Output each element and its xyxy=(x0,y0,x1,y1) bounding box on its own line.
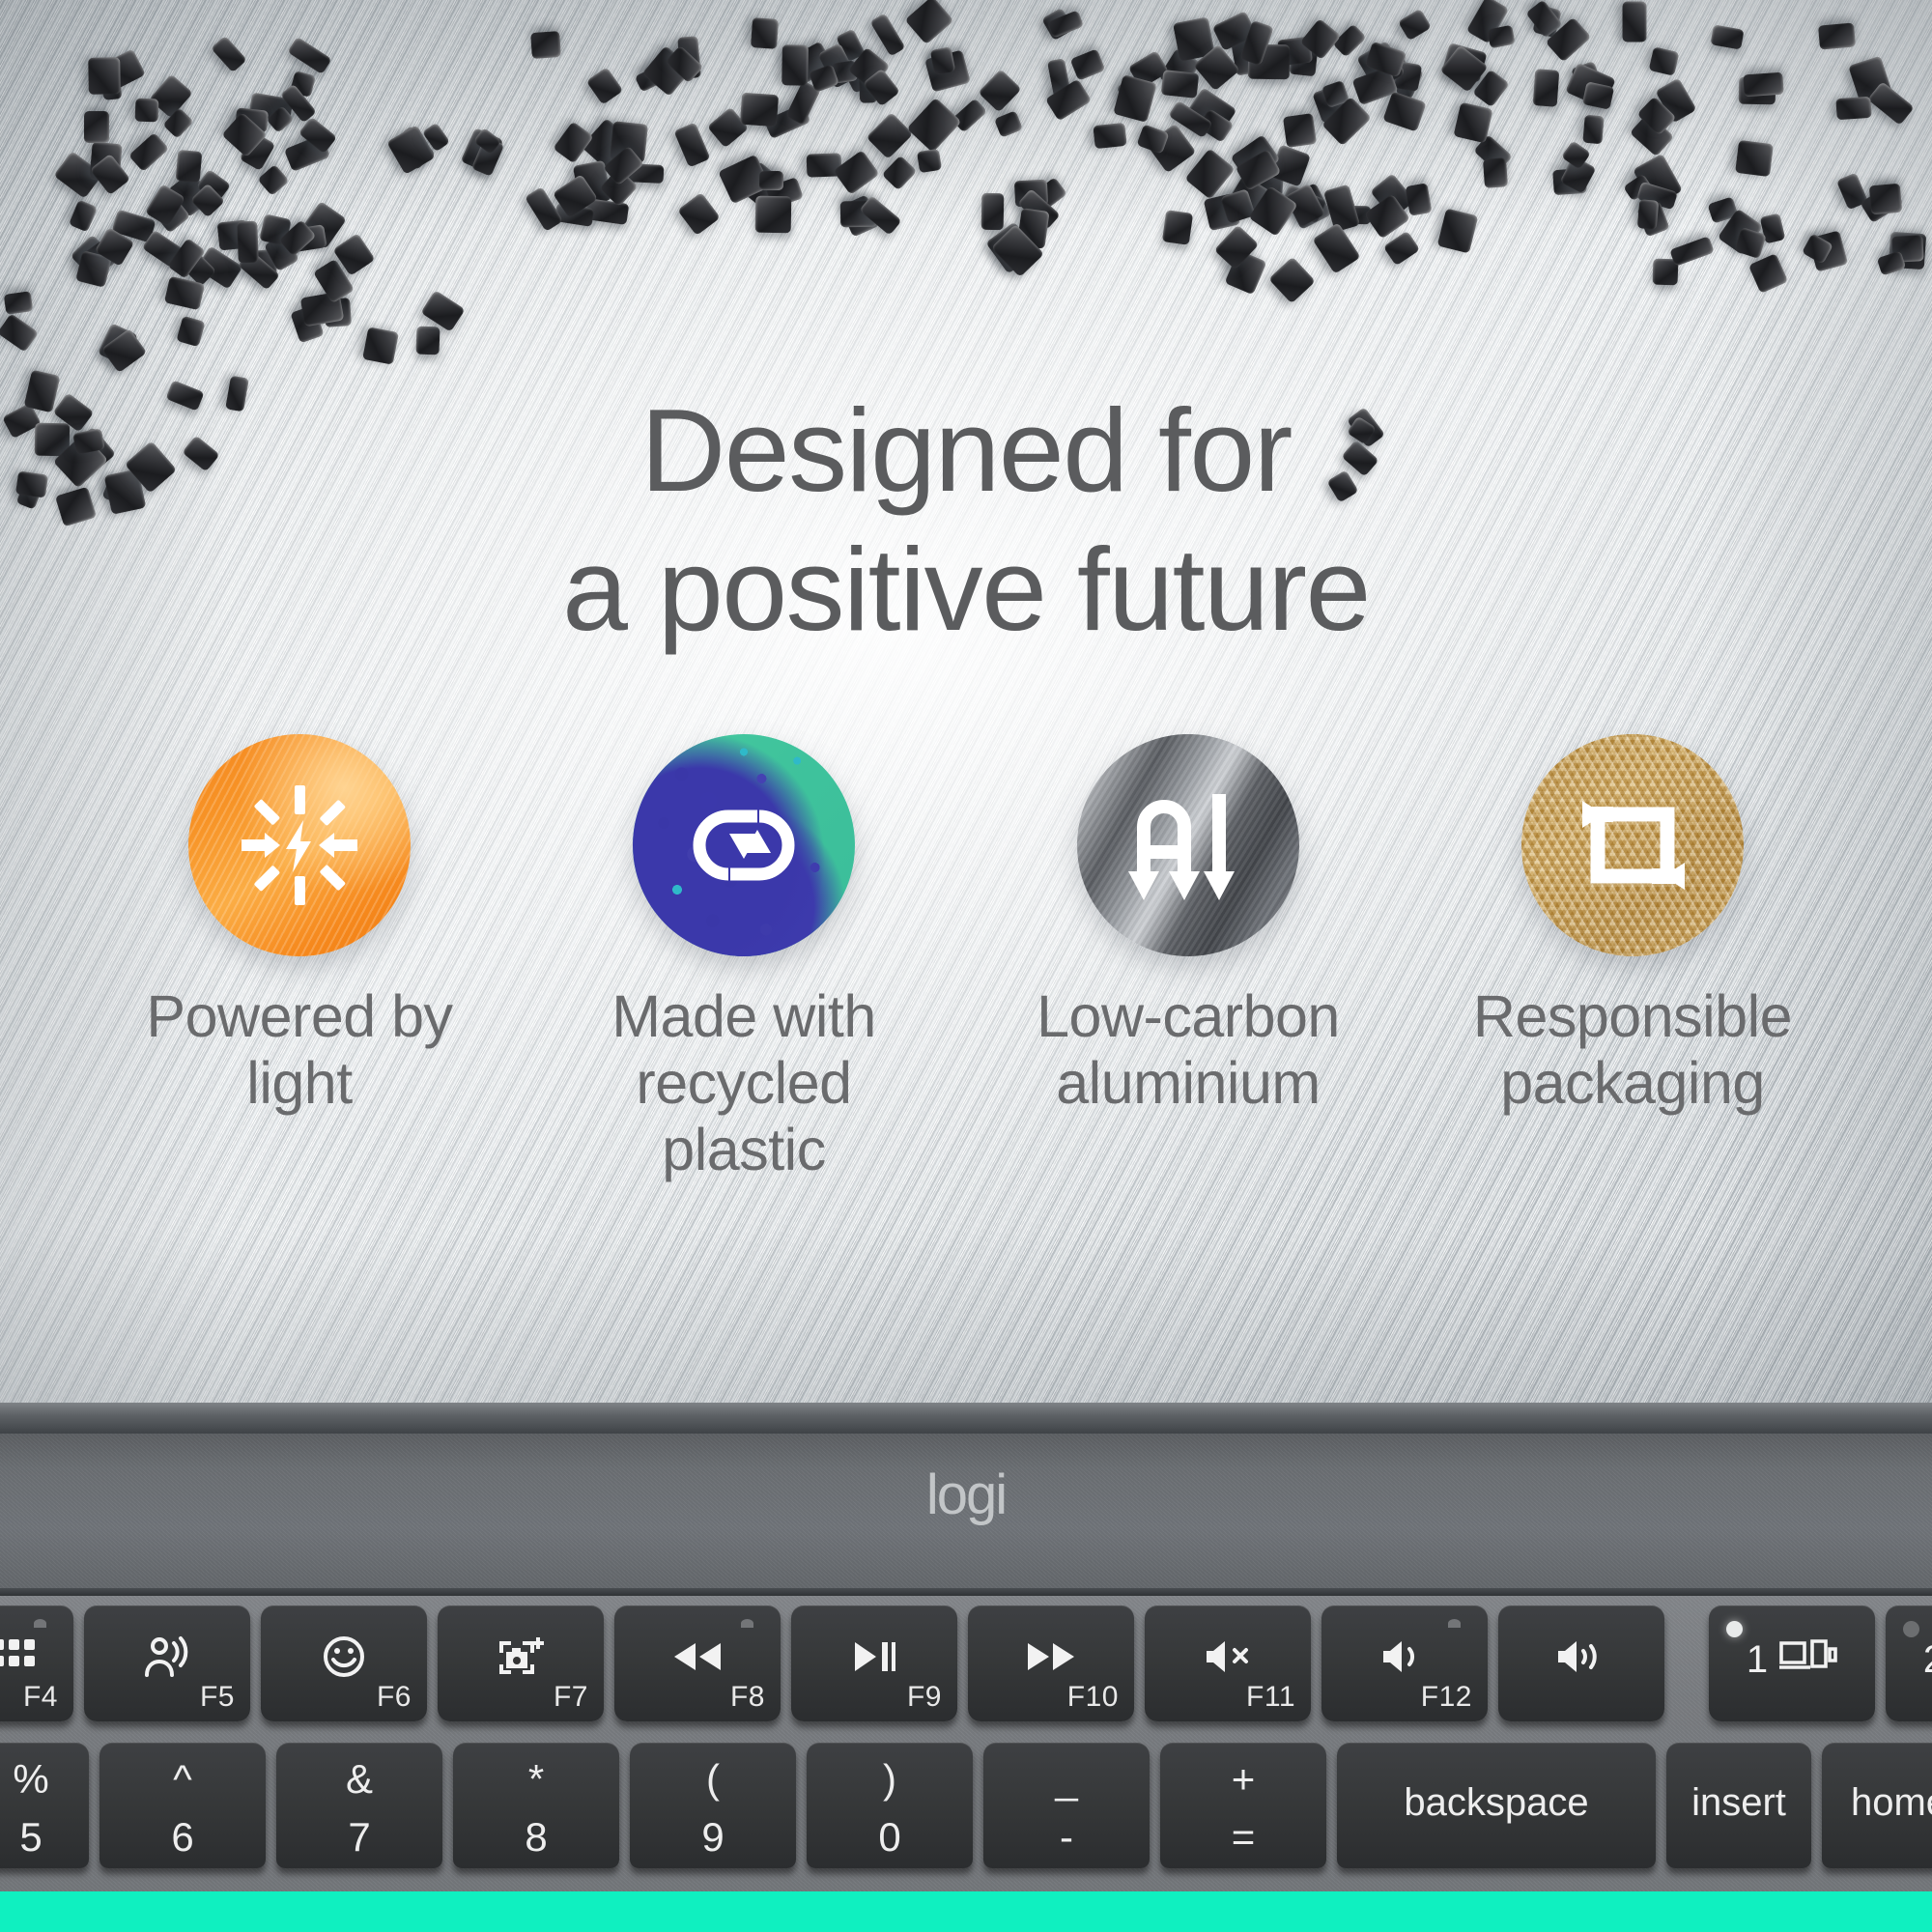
plastic-pellet xyxy=(1268,257,1316,304)
product-marketing-image: Designed for a positive future xyxy=(0,0,1932,1932)
plastic-pellet xyxy=(978,69,1021,112)
volume-up-icon xyxy=(1498,1634,1664,1679)
plastic-pellet xyxy=(1869,184,1902,215)
plastic-pellet xyxy=(1383,231,1420,267)
key-label: 6 xyxy=(99,1814,266,1861)
key-f11[interactable]: F11 xyxy=(1145,1605,1311,1721)
key-volume-up[interactable] xyxy=(1498,1605,1664,1721)
plastic-pellet xyxy=(416,327,440,355)
keyboard-function-row: F4 F5 F6 F7 xyxy=(0,1605,1932,1721)
plastic-pellet xyxy=(917,149,942,173)
plastic-pellet xyxy=(128,132,169,172)
key-backspace[interactable]: backspace xyxy=(1337,1743,1656,1868)
plastic-pellet xyxy=(1637,199,1660,230)
plastic-pellet xyxy=(1710,24,1744,49)
rewind-icon xyxy=(614,1634,781,1679)
plastic-pellet xyxy=(906,98,961,153)
mute-icon xyxy=(1145,1634,1311,1679)
plastic-pellet xyxy=(1437,208,1479,253)
key-shift-label: & xyxy=(276,1756,442,1803)
status-dot xyxy=(1448,1619,1461,1628)
fn-label: F4 xyxy=(23,1681,58,1714)
feature-caption: Responsible packaging xyxy=(1473,983,1792,1117)
key-label: 8 xyxy=(453,1814,619,1861)
feature-recycled-plastic: Made with recycled plastic xyxy=(560,734,927,1183)
dictation-voice-icon xyxy=(84,1634,250,1679)
plastic-pellet xyxy=(176,316,206,348)
fn-label: F5 xyxy=(200,1681,235,1714)
keyboard: logi F4 F5 F6 xyxy=(0,1403,1932,1932)
key-label: 7 xyxy=(276,1814,442,1861)
feature-powered-by-light: Powered by light xyxy=(116,734,483,1117)
plastic-pellet xyxy=(530,31,561,59)
plastic-pellet xyxy=(781,44,809,85)
key-label: home xyxy=(1822,1781,1932,1825)
plastic-pellet xyxy=(257,164,289,196)
easy-switch-number: 2 xyxy=(1923,1638,1932,1682)
key-label: 5 xyxy=(0,1814,89,1861)
plastic-pellet xyxy=(755,196,792,234)
plastic-pellet xyxy=(882,156,918,191)
plastic-pellet xyxy=(1582,81,1614,110)
key-0[interactable]: ) 0 xyxy=(807,1743,973,1868)
powered-by-light-badge xyxy=(188,734,411,956)
volume-down-icon xyxy=(1321,1634,1488,1679)
key-label: = xyxy=(1160,1814,1326,1861)
easy-switch-led xyxy=(1903,1621,1919,1637)
key--[interactable]: _ - xyxy=(983,1743,1150,1868)
key-7[interactable]: & 7 xyxy=(276,1743,442,1868)
plastic-pellet xyxy=(1623,2,1647,43)
easy-switch-content: 2 xyxy=(1886,1636,1932,1683)
plastic-pellet xyxy=(1877,250,1907,275)
plastic-pellet xyxy=(867,112,914,159)
key-f5[interactable]: F5 xyxy=(84,1605,250,1721)
headline-line-2: a positive future xyxy=(0,521,1932,660)
play-pause-icon xyxy=(791,1634,957,1679)
emoji-smiley-icon xyxy=(261,1634,427,1679)
key-shift-label: + xyxy=(1160,1756,1326,1803)
plastic-pellet xyxy=(1405,183,1432,216)
plastic-pellet xyxy=(1162,210,1193,245)
plastic-pellet xyxy=(1649,46,1680,75)
plastic-pellet xyxy=(69,200,98,233)
plastic-pellet xyxy=(1184,148,1235,199)
plastic-pellet xyxy=(905,0,954,44)
plastic-pellet xyxy=(1161,70,1200,99)
feature-caption: Made with recycled plastic xyxy=(560,983,927,1183)
plastic-pellet xyxy=(176,150,203,183)
plastic-pellet xyxy=(1382,91,1426,131)
recycled-plastic-badge xyxy=(633,734,855,956)
feature-caption: Powered by light xyxy=(146,983,452,1117)
key-f9[interactable]: F9 xyxy=(791,1605,957,1721)
packaging-loop-icon xyxy=(1569,781,1696,909)
plastic-pellet xyxy=(759,171,783,190)
feature-low-carbon-aluminium: Low-carbon aluminium xyxy=(1005,734,1372,1117)
fn-label: F11 xyxy=(1246,1681,1295,1714)
fast-forward-icon xyxy=(968,1634,1134,1679)
plastic-pellet xyxy=(1743,72,1784,98)
key-label: backspace xyxy=(1337,1781,1656,1825)
plastic-pellet xyxy=(1582,115,1604,145)
key-label: 9 xyxy=(630,1814,796,1861)
status-dot xyxy=(741,1619,753,1628)
fn-label: F8 xyxy=(730,1681,765,1714)
plastic-pellet xyxy=(677,192,721,236)
plastic-pellet xyxy=(553,121,593,163)
key-f12[interactable]: F12 xyxy=(1321,1605,1488,1721)
status-dot xyxy=(34,1619,46,1628)
plastic-pellet xyxy=(673,122,710,167)
fn-label: F12 xyxy=(1421,1681,1472,1714)
plastic-pellet xyxy=(1070,48,1106,80)
key-5[interactable]: % 5 xyxy=(0,1743,89,1868)
plastic-pellet xyxy=(1323,185,1360,233)
easy-switch-led xyxy=(1726,1621,1743,1637)
screenshot-snip-icon xyxy=(438,1634,604,1679)
fn-label: F9 xyxy=(907,1681,942,1714)
plastic-pellet xyxy=(88,57,121,95)
plastic-pellet xyxy=(981,193,1005,230)
feature-row: Powered by light Made with xyxy=(116,734,1816,1183)
fn-label: F7 xyxy=(554,1681,588,1714)
key-6[interactable]: ^ 6 xyxy=(99,1743,266,1868)
headline-line-1: Designed for xyxy=(640,384,1292,516)
key-home[interactable]: home xyxy=(1822,1743,1932,1868)
plastic-pellet xyxy=(751,17,779,49)
plastic-pellet xyxy=(1093,123,1126,149)
responsible-packaging-badge xyxy=(1521,734,1744,956)
feature-responsible-packaging: Responsible packaging xyxy=(1449,734,1816,1117)
plastic-pellet xyxy=(1835,97,1871,120)
key-f7[interactable]: F7 xyxy=(438,1605,604,1721)
key-f6[interactable]: F6 xyxy=(261,1605,427,1721)
key-8[interactable]: * 8 xyxy=(453,1743,619,1868)
plastic-pellet xyxy=(930,46,956,75)
key-label: - xyxy=(983,1814,1150,1861)
plastic-pellet xyxy=(740,93,779,128)
key-f8[interactable]: F8 xyxy=(614,1605,781,1721)
light-burst-icon xyxy=(236,781,363,909)
plastic-pellet xyxy=(1669,236,1715,267)
plastic-pellet xyxy=(1113,74,1157,123)
easy-switch-key-1[interactable]: 1 xyxy=(1709,1605,1875,1721)
key-f10[interactable]: F10 xyxy=(968,1605,1134,1721)
fn-label: F10 xyxy=(1067,1681,1119,1714)
plastic-pellet xyxy=(362,327,399,364)
plastic-pellet xyxy=(0,313,39,353)
key-shift-label: ^ xyxy=(99,1756,266,1803)
key-shift-label: % xyxy=(0,1756,89,1803)
plastic-pellet xyxy=(586,67,624,104)
logi-logo: logi xyxy=(0,1463,1932,1527)
plastic-pellet xyxy=(1487,25,1515,49)
low-carbon-aluminium-badge xyxy=(1077,734,1299,956)
accent-band xyxy=(0,1891,1932,1932)
easy-switch-key-2[interactable]: 2 xyxy=(1886,1605,1932,1721)
keyboard-number-row: % 5 ^ 6 & 7 * 8 ( 9 ) 0 _ - + = backspac… xyxy=(0,1743,1932,1868)
plastic-pellet xyxy=(211,36,247,73)
key-f4[interactable]: F4 xyxy=(0,1605,73,1721)
key-shift-label: ( xyxy=(630,1756,796,1803)
plastic-pellet xyxy=(287,37,331,74)
plastic-pellet xyxy=(1332,23,1366,57)
key-shift-label: _ xyxy=(983,1756,1150,1803)
plastic-pellet xyxy=(1483,157,1508,188)
plastic-pellet xyxy=(1533,69,1560,107)
key-9[interactable]: ( 9 xyxy=(630,1743,796,1868)
plastic-pellet xyxy=(84,111,109,143)
key-shift-label: * xyxy=(453,1756,619,1803)
devices-icon xyxy=(1777,1635,1837,1684)
key-insert[interactable]: insert xyxy=(1666,1743,1811,1868)
feature-caption: Low-carbon aluminium xyxy=(1037,983,1340,1117)
plastic-pellet xyxy=(1398,9,1432,42)
easy-switch-number: 1 xyxy=(1747,1638,1768,1682)
plastic-pellet xyxy=(4,291,34,315)
plastic-pellet xyxy=(994,110,1023,137)
key-shift-label: ) xyxy=(807,1756,973,1803)
plastic-pellet xyxy=(135,99,159,123)
page-title: Designed for a positive future xyxy=(0,382,1932,660)
fn-label: F6 xyxy=(377,1681,412,1714)
easy-switch-content: 1 xyxy=(1709,1636,1875,1683)
plastic-pellet xyxy=(1735,140,1774,177)
key-=[interactable]: + = xyxy=(1160,1743,1326,1868)
plastic-pellet xyxy=(1818,22,1856,49)
app-grid-icon xyxy=(0,1634,73,1679)
plastic-pellet xyxy=(869,13,905,56)
plastic-pellet xyxy=(1748,253,1788,294)
plastic-pellet xyxy=(952,98,987,132)
aluminium-low-carbon-icon xyxy=(1122,784,1254,906)
recycle-circular-arrows-icon xyxy=(673,789,814,901)
key-label: insert xyxy=(1666,1781,1811,1825)
plastic-pellet xyxy=(237,221,258,264)
plastic-pellet xyxy=(1283,113,1317,148)
plastic-pellet xyxy=(1312,222,1360,273)
keyboard-top-edge xyxy=(0,1403,1932,1434)
key-label: 0 xyxy=(807,1814,973,1861)
